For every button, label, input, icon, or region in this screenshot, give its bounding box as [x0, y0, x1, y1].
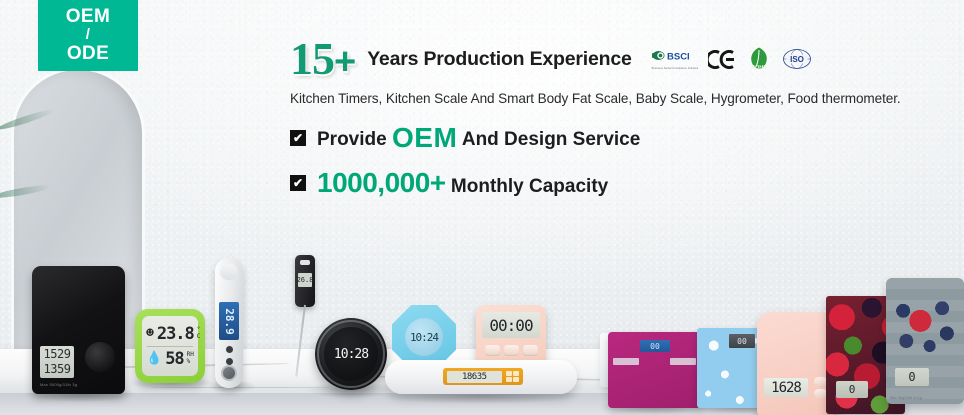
bullet-1-pre: Provide	[317, 129, 387, 150]
berry-scale-display: 0	[836, 381, 868, 398]
platform-scale-display: 18635	[443, 368, 523, 385]
round-timer-display: 10:28	[324, 327, 378, 381]
years-value: 15	[290, 33, 334, 84]
bullet-2-accent: 1000,000+	[317, 167, 446, 198]
pink-timer-buttons	[482, 345, 540, 356]
scale-key	[506, 371, 512, 376]
timer-button	[523, 345, 538, 356]
svg-text:ROHS: ROHS	[751, 65, 767, 71]
platform-scale-value: 18635	[447, 371, 502, 383]
slate-berry-kitchen-scale: 0 Max 5kg/11lb d=1g	[886, 278, 964, 404]
electrode-strip	[613, 358, 639, 365]
probe-hanging-hook	[221, 365, 237, 381]
white-probe-thermometer: 28.9	[215, 258, 243, 388]
hygrometer-temp-value: 23.8	[157, 324, 194, 344]
probe-button	[226, 358, 233, 365]
svg-text:ISO: ISO	[790, 55, 804, 64]
bullet-2-post: Monthly Capacity	[451, 176, 608, 197]
headline-text: Years Production Experience	[367, 48, 631, 71]
probe-cap	[220, 264, 238, 280]
green-hygrometer: ☻ 23.8 ° C 💧 58 RH %	[135, 309, 205, 383]
timer-button	[504, 345, 519, 356]
white-platform-scale: 18635	[385, 360, 577, 394]
stick-display: 26.8	[298, 273, 312, 287]
hygrometer-display: ☻ 23.8 ° C 💧 58 RH %	[142, 316, 198, 376]
years-number: 15+	[290, 36, 355, 82]
promo-banner: OEM / ODE 15+ Years Production Experienc…	[0, 0, 964, 415]
hygrometer-humidity-row: 💧 58 RH %	[146, 349, 194, 369]
hum-unit-percent: %	[187, 358, 191, 365]
probe-button	[226, 346, 233, 353]
probe-display: 28.9	[219, 302, 239, 340]
bullet-1-accent: OEM	[392, 122, 457, 153]
hygrometer-divider	[147, 346, 193, 347]
plus-sign: +	[334, 41, 355, 83]
bullet-1-post: And Design Service	[462, 129, 640, 150]
electrode-strip	[670, 358, 696, 365]
black-stick-thermometer: 26.8	[295, 255, 315, 307]
hygrometer-temp-row: ☻ 23.8 ° C	[146, 324, 194, 344]
slate-scale-display: 0	[895, 368, 929, 386]
water-drop-icon: 💧	[146, 351, 162, 366]
scale-key	[506, 377, 512, 382]
iso-logo-icon: ISO	[782, 48, 812, 70]
bsci-logo: BSCI Business Social Compliance Initiati…	[652, 48, 699, 70]
slate-scale-brand-text: Max 5kg/11lb d=1g	[890, 396, 922, 400]
platform-scale-keys	[506, 371, 520, 383]
bullet-2-text: 1000,000+ Monthly Capacity	[317, 167, 608, 199]
scale-key	[513, 371, 519, 376]
hygrometer-humidity-value: 58	[165, 349, 183, 369]
bullet-1-text: Provide OEM And Design Service	[317, 122, 640, 154]
black-scale-display: 1529 1359	[40, 346, 74, 378]
magenta-body-fat-scale: 00	[608, 332, 701, 408]
bsci-logo-icon: BSCI	[652, 48, 698, 63]
black-scale-line-2: 1359	[40, 362, 74, 377]
badge-line-1: OEM	[66, 7, 110, 28]
magenta-scale-display: 00	[640, 340, 670, 352]
bsci-subtitle: Business Social Compliance Initiative	[652, 67, 699, 70]
bullet-oem-service: ✔ Provide OEM And Design Service	[290, 122, 960, 154]
badge-slash: /	[86, 27, 91, 44]
hygrometer-humidity-unit: RH %	[187, 352, 194, 365]
svg-text:BSCI: BSCI	[667, 52, 690, 63]
headline-row: 15+ Years Production Experience BSCI Bus…	[290, 36, 960, 82]
black-scale-line-1: 1529	[40, 347, 74, 362]
black-scale-control-pad	[85, 342, 115, 372]
stick-top-slot	[300, 260, 310, 265]
hygrometer-temp-unit: ° C	[197, 327, 201, 340]
black-kitchen-scale: 1529 1359 Max 5000g/11lb 3g	[32, 266, 125, 394]
product-list-subtitle: Kitchen Timers, Kitchen Scale And Smart …	[290, 91, 960, 106]
checkbox-checked-icon: ✔	[290, 130, 306, 146]
rohs-logo-icon: ROHS	[746, 46, 772, 72]
ce-logo-icon	[708, 50, 736, 69]
badge-line-2: ODE	[67, 44, 109, 65]
timer-button	[485, 345, 500, 356]
pink-scale-display: 1628	[764, 378, 808, 397]
pink-timer-display: 00:00	[482, 312, 540, 338]
temp-unit-celsius: C	[197, 333, 201, 340]
round-black-timer: 10:28	[315, 318, 387, 390]
probe-display-value: 28.9	[223, 308, 236, 335]
black-scale-brand-text: Max 5000g/11lb 3g	[40, 382, 77, 387]
pink-kitchen-scale: 1628	[757, 312, 835, 415]
checkbox-checked-icon: ✔	[290, 175, 306, 191]
octagon-timer-display: 10:24	[405, 318, 443, 356]
smiley-face-icon: ☻	[146, 326, 154, 341]
bullet-monthly-capacity: ✔ 1000,000+ Monthly Capacity	[290, 167, 960, 199]
dotted-scale-display: 00	[729, 334, 755, 348]
scale-key	[513, 377, 519, 382]
copy-block: 15+ Years Production Experience BSCI Bus…	[290, 36, 960, 199]
certification-logos: BSCI Business Social Compliance Initiati…	[652, 46, 813, 72]
oem-ode-badge: OEM / ODE	[38, 0, 138, 71]
